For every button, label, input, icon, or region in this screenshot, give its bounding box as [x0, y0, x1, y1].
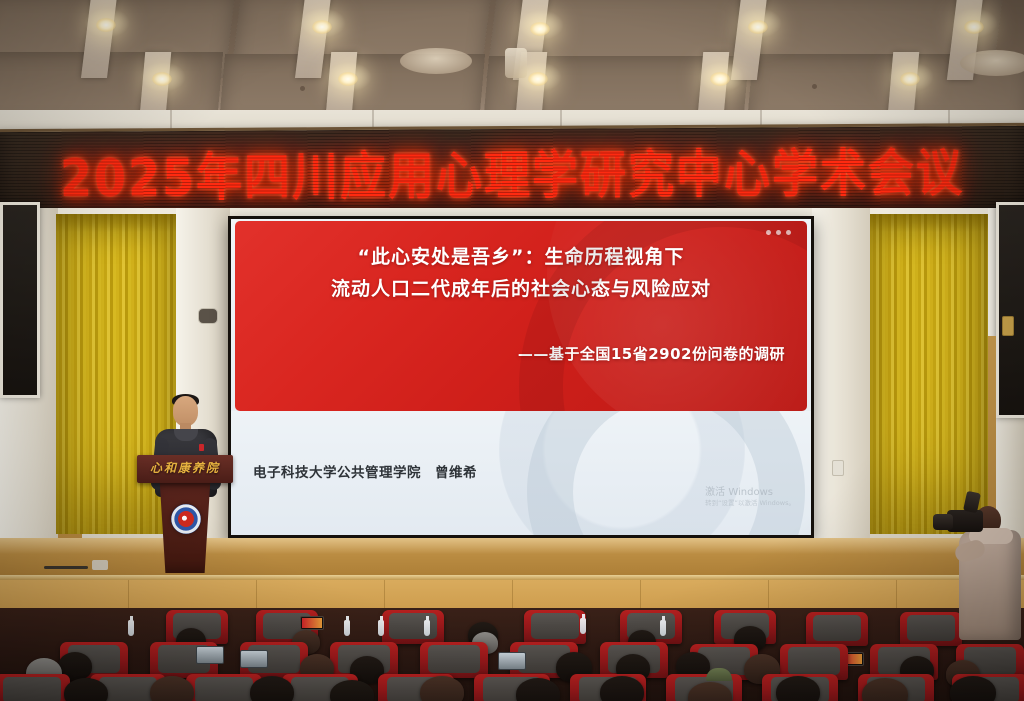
slide-dot-icon: [776, 230, 781, 235]
floor-monitor: [92, 560, 108, 570]
stage-curtain-right: [870, 214, 988, 534]
ceiling-dome-light: [960, 50, 1024, 76]
slide-author-line: 电子科技大学公共管理学院 曾维希: [253, 461, 477, 481]
led-banner-text: 2025年四川应用心理学研究中心学术会议: [60, 132, 964, 211]
ceiling-dome-light: [400, 48, 472, 74]
auditorium-seat[interactable]: [900, 612, 962, 646]
baseball-cap: [706, 668, 732, 681]
slide-footer-panel: 电子科技大学公共管理学院 曾维希 激活 Windows 转到“设置”以激活 Wi…: [231, 411, 811, 535]
cable-on-stage: [44, 566, 88, 569]
water-bottle: [660, 620, 666, 636]
slide-title-panel: “此心安处是吾乡”：生命历程视角下 流动人口二代成年后的社会心态与风险应对 ——…: [235, 221, 807, 411]
water-bottle: [424, 620, 430, 636]
ceiling-sensor: [812, 84, 817, 89]
ceiling-downlight: [528, 72, 548, 86]
ceiling-downlight: [338, 72, 358, 86]
wall-outlet: [832, 460, 844, 476]
smartphone-recording[interactable]: [300, 616, 324, 630]
auditorium-photo: 2025年四川应用心理学研究中心学术会议 “此心安处是吾乡”：生命历程视角: [0, 0, 1024, 701]
watermark-line2: 转到“设置”以激活 Windows。: [705, 499, 795, 508]
wall-sign: [1002, 316, 1014, 336]
ceiling-downlight: [152, 72, 172, 86]
ceiling-downlight: [312, 20, 332, 34]
presenter-badge: [199, 444, 204, 451]
audience-head: [600, 676, 644, 701]
wall-speaker-bracket: [198, 308, 218, 324]
water-bottle: [378, 620, 384, 636]
windows-activation-watermark: 激活 Windows 转到“设置”以激活 Windows。: [705, 487, 795, 508]
audience-head: [776, 676, 820, 701]
ceiling-downlight: [900, 72, 920, 86]
camera-lens-icon: [933, 514, 953, 530]
ceiling-downlight: [964, 20, 984, 34]
water-bottle: [344, 620, 350, 636]
slide-dot-icon: [786, 230, 791, 235]
laptop[interactable]: [498, 652, 526, 670]
auditorium-seat[interactable]: [806, 612, 868, 646]
ceiling-downlight: [530, 22, 550, 36]
slide-title: “此心安处是吾乡”：生命历程视角下 流动人口二代成年后的社会心态与风险应对: [235, 241, 807, 305]
auditorium-seat[interactable]: [382, 610, 444, 644]
audience-area: [0, 608, 1024, 701]
wall-acoustic-panel: [0, 202, 40, 398]
audience-head: [420, 676, 464, 701]
slide-dots-decoration: [766, 230, 791, 235]
podium: 心和康养院: [137, 455, 233, 573]
slide-title-line1: “此心安处是吾乡”：生命历程视角下: [235, 241, 807, 273]
presenter-head: [173, 396, 198, 426]
camera-operator: [955, 492, 1021, 664]
laptop[interactable]: [196, 646, 224, 664]
audience-head: [250, 676, 294, 701]
auditorium-seat[interactable]: [0, 674, 70, 701]
audience-head: [516, 678, 560, 701]
water-bottle: [580, 618, 586, 634]
projection-screen[interactable]: “此心安处是吾乡”：生命历程视角下 流动人口二代成年后的社会心态与风险应对 ——…: [231, 219, 811, 535]
audience-head: [950, 676, 996, 701]
auditorium-seat[interactable]: [420, 642, 488, 678]
slide-title-line2: 流动人口二代成年后的社会心态与风险应对: [235, 273, 807, 305]
ceiling-sensor: [300, 86, 305, 91]
auditorium-seat[interactable]: [524, 610, 586, 644]
wall-acoustic-panel: [996, 202, 1024, 418]
water-bottle: [128, 620, 134, 636]
audience-head: [150, 676, 194, 701]
audience-head: [64, 678, 108, 701]
slide-ring-decoration: [527, 411, 805, 535]
podium-emblem-icon: [171, 504, 201, 534]
ceiling-downlight: [96, 18, 116, 32]
ceiling-downlight: [748, 20, 768, 34]
slide-subtitle: ——基于全国15省2902份问卷的调研: [518, 343, 785, 364]
watermark-line1: 激活 Windows: [705, 487, 795, 499]
ceiling-downlight: [710, 72, 730, 86]
podium-script-text: 心和康养院: [137, 459, 233, 476]
laptop[interactable]: [240, 650, 268, 668]
slide-dot-icon: [766, 230, 771, 235]
